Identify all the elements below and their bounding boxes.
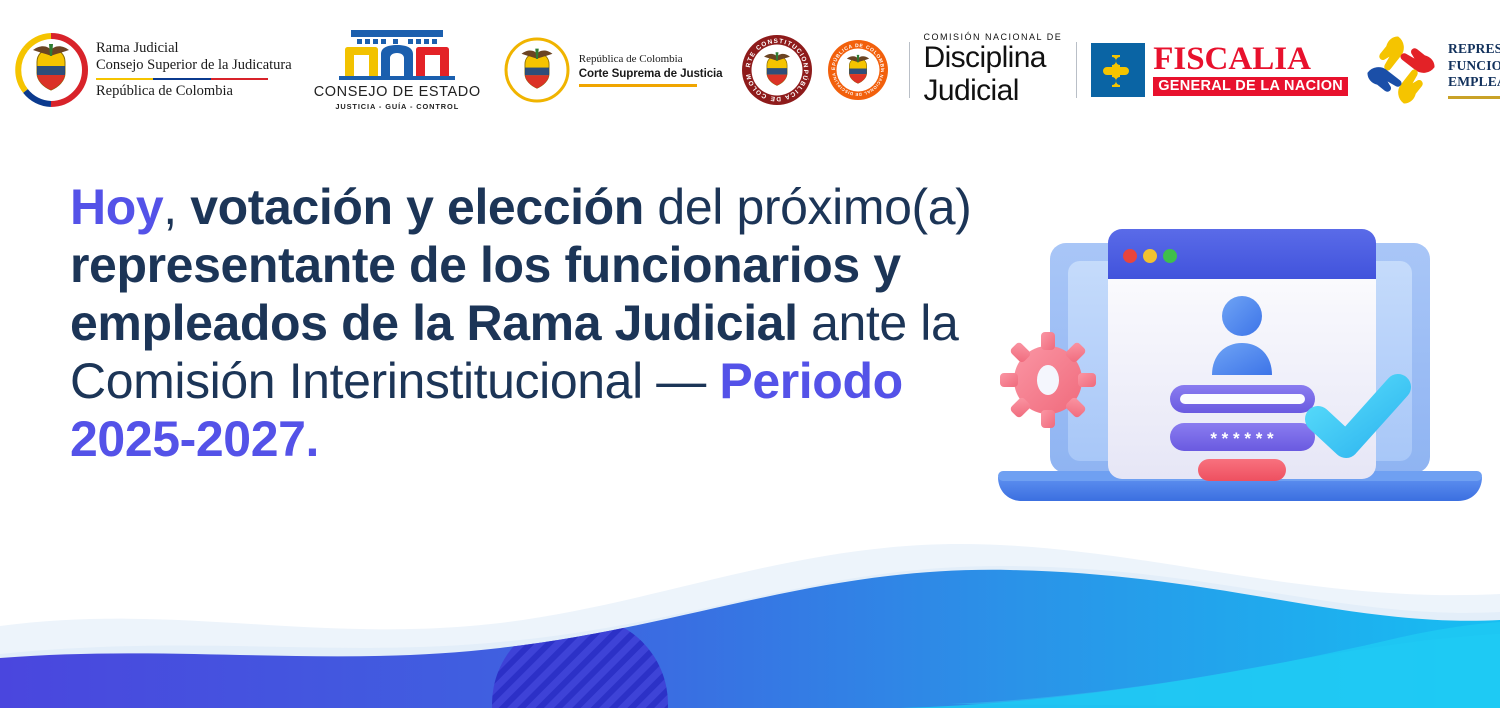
headline-hoy: Hoy <box>70 179 163 235</box>
tricolor-rule <box>96 78 268 81</box>
fiscalia-name: FISCALIA <box>1153 44 1348 76</box>
laptop-login-illustration: * * * * * * <box>990 215 1490 515</box>
gold-rule <box>1448 96 1500 99</box>
divider <box>1076 42 1077 98</box>
rama-judicial-emblem-icon <box>14 33 88 107</box>
decorative-waves <box>0 508 1500 708</box>
rama-judicial-line1: Rama Judicial <box>96 40 292 57</box>
fiscalia-puzzle-icon <box>1091 43 1145 97</box>
headline-bold-2: representante de los funcionarios y empl… <box>70 237 901 351</box>
logo-representante-funcionarios: REPRESENTANTE DE FUNCIONARIOS Y EMPLEADO… <box>1362 31 1500 109</box>
fiscalia-band: GENERAL DE LA NACION <box>1153 77 1348 96</box>
institutional-logo-bar: Rama Judicial Consejo Superior de la Jud… <box>0 0 1500 140</box>
divider <box>909 42 910 98</box>
logo-corte-suprema: República de Colombia Corte Suprema de J… <box>503 36 723 104</box>
headline-periodo: Periodo <box>719 353 902 409</box>
consejo-estado-subtitle: JUSTICIA - GUÍA - CONTROL <box>335 102 459 111</box>
disciplina-line2: Judicial <box>924 75 1063 107</box>
password-mask: * * * * * * <box>1210 429 1274 448</box>
logo-corte-constitucional: CORTE CONSTITUCIONAL REPÚBLICA DE COLOMB… <box>741 34 813 106</box>
consejo-estado-building-icon <box>335 30 459 82</box>
logo-disciplina-judicial-wordmark: COMISIÓN NACIONAL DE Disciplina Judicial <box>924 33 1063 107</box>
logo-disciplina-judicial-seal: REPÚBLICA DE COLOMBIA COMISIÓN NACIONAL … <box>827 39 889 101</box>
headline-comma: , <box>163 179 190 235</box>
corte-suprema-line1: República de Colombia <box>579 53 723 67</box>
headline-years: 2025-2027. <box>70 410 1030 468</box>
logo-fiscalia: FISCALIA GENERAL DE LA NACION <box>1091 43 1348 97</box>
rama-judicial-line3: República de Colombia <box>96 83 292 100</box>
rama-judicial-line2: Consejo Superior de la Judicatura <box>96 57 292 74</box>
four-hands-icon <box>1362 31 1440 109</box>
logo-rama-judicial: Rama Judicial Consejo Superior de la Jud… <box>14 33 292 107</box>
representante-line1: REPRESENTANTE DE <box>1448 41 1500 58</box>
gold-rule <box>579 84 697 86</box>
corte-suprema-line2: Corte Suprema de Justicia <box>579 67 723 81</box>
representante-line3: EMPLEADOS JUDICIALES <box>1448 74 1500 91</box>
disciplina-line1: Disciplina <box>924 42 1063 74</box>
headline-regular-1: del próximo(a) <box>644 179 971 235</box>
disciplina-judicial-seal-icon: REPÚBLICA DE COLOMBIA COMISIÓN NACIONAL … <box>827 39 889 101</box>
corte-suprema-emblem-icon <box>503 36 571 104</box>
logo-consejo-de-estado: CONSEJO DE ESTADO JUSTICIA - GUÍA - CONT… <box>314 30 481 111</box>
banner-root: Rama Judicial Consejo Superior de la Jud… <box>0 0 1500 708</box>
representante-line2: FUNCIONARIOS Y <box>1448 58 1500 75</box>
corte-constitucional-seal-icon: CORTE CONSTITUCIONAL REPÚBLICA DE COLOMB… <box>741 34 813 106</box>
consejo-estado-title: CONSEJO DE ESTADO <box>314 84 481 100</box>
headline: Hoy, votación y elección del próximo(a) … <box>70 178 1030 468</box>
headline-bold-1: votación y elección <box>190 179 644 235</box>
